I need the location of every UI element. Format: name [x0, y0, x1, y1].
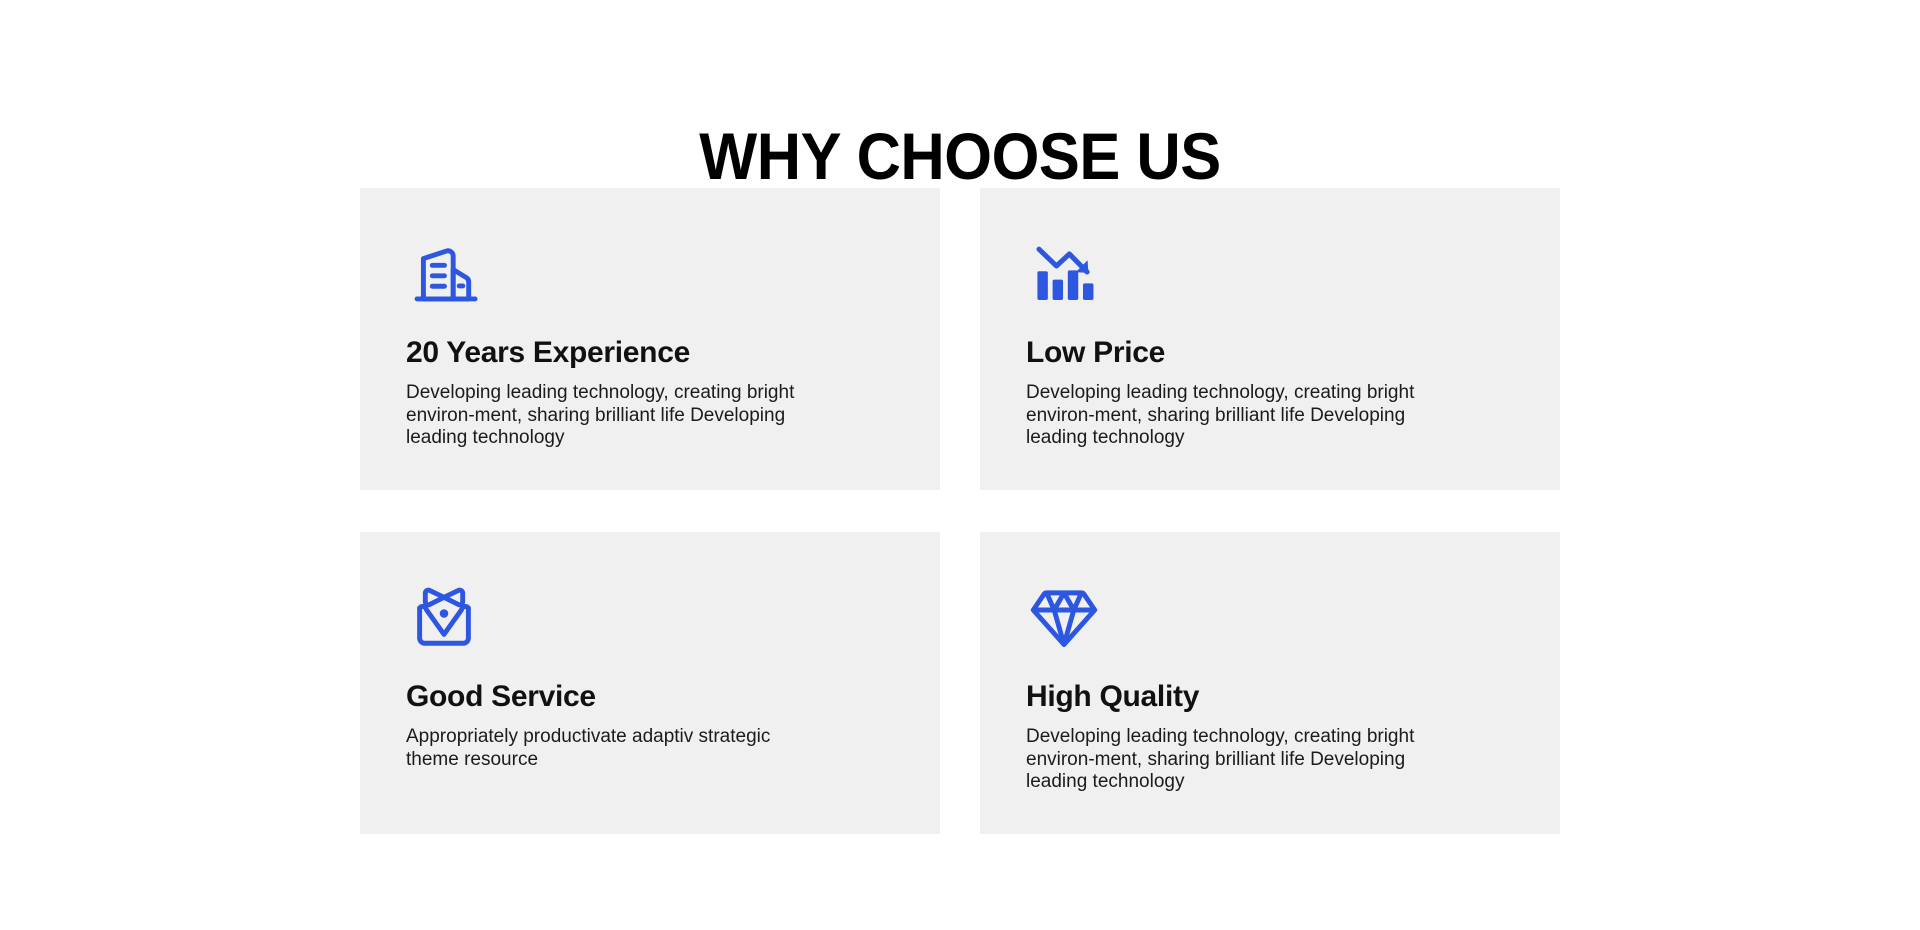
why-choose-us-section: WHY CHOOSE US 20 Years Experience Develo…	[0, 0, 1920, 930]
card-description: Developing leading technology, creating …	[1026, 382, 1446, 450]
feature-card-grid: 20 Years Experience Developing leading t…	[360, 188, 1560, 834]
feature-card-high-quality[interactable]: High Quality Developing leading technolo…	[980, 532, 1560, 834]
card-description: Developing leading technology, creating …	[1026, 726, 1446, 794]
office-building-icon	[406, 234, 482, 310]
card-title: 20 Years Experience	[406, 336, 894, 370]
feature-card-good-service[interactable]: Good Service Appropriately productivate …	[360, 532, 940, 834]
card-title: Low Price	[1026, 336, 1514, 370]
tuxedo-service-icon	[406, 578, 482, 654]
page-title: WHY CHOOSE US	[67, 120, 1853, 192]
card-title: Good Service	[406, 680, 894, 714]
declining-bar-chart-icon	[1026, 234, 1102, 310]
card-description: Developing leading technology, creating …	[406, 382, 826, 450]
card-description: Appropriately productivate adaptiv strat…	[406, 726, 826, 771]
diamond-gem-icon	[1026, 578, 1102, 654]
card-title: High Quality	[1026, 680, 1514, 714]
feature-card-experience[interactable]: 20 Years Experience Developing leading t…	[360, 188, 940, 490]
feature-card-low-price[interactable]: Low Price Developing leading technology,…	[980, 188, 1560, 490]
